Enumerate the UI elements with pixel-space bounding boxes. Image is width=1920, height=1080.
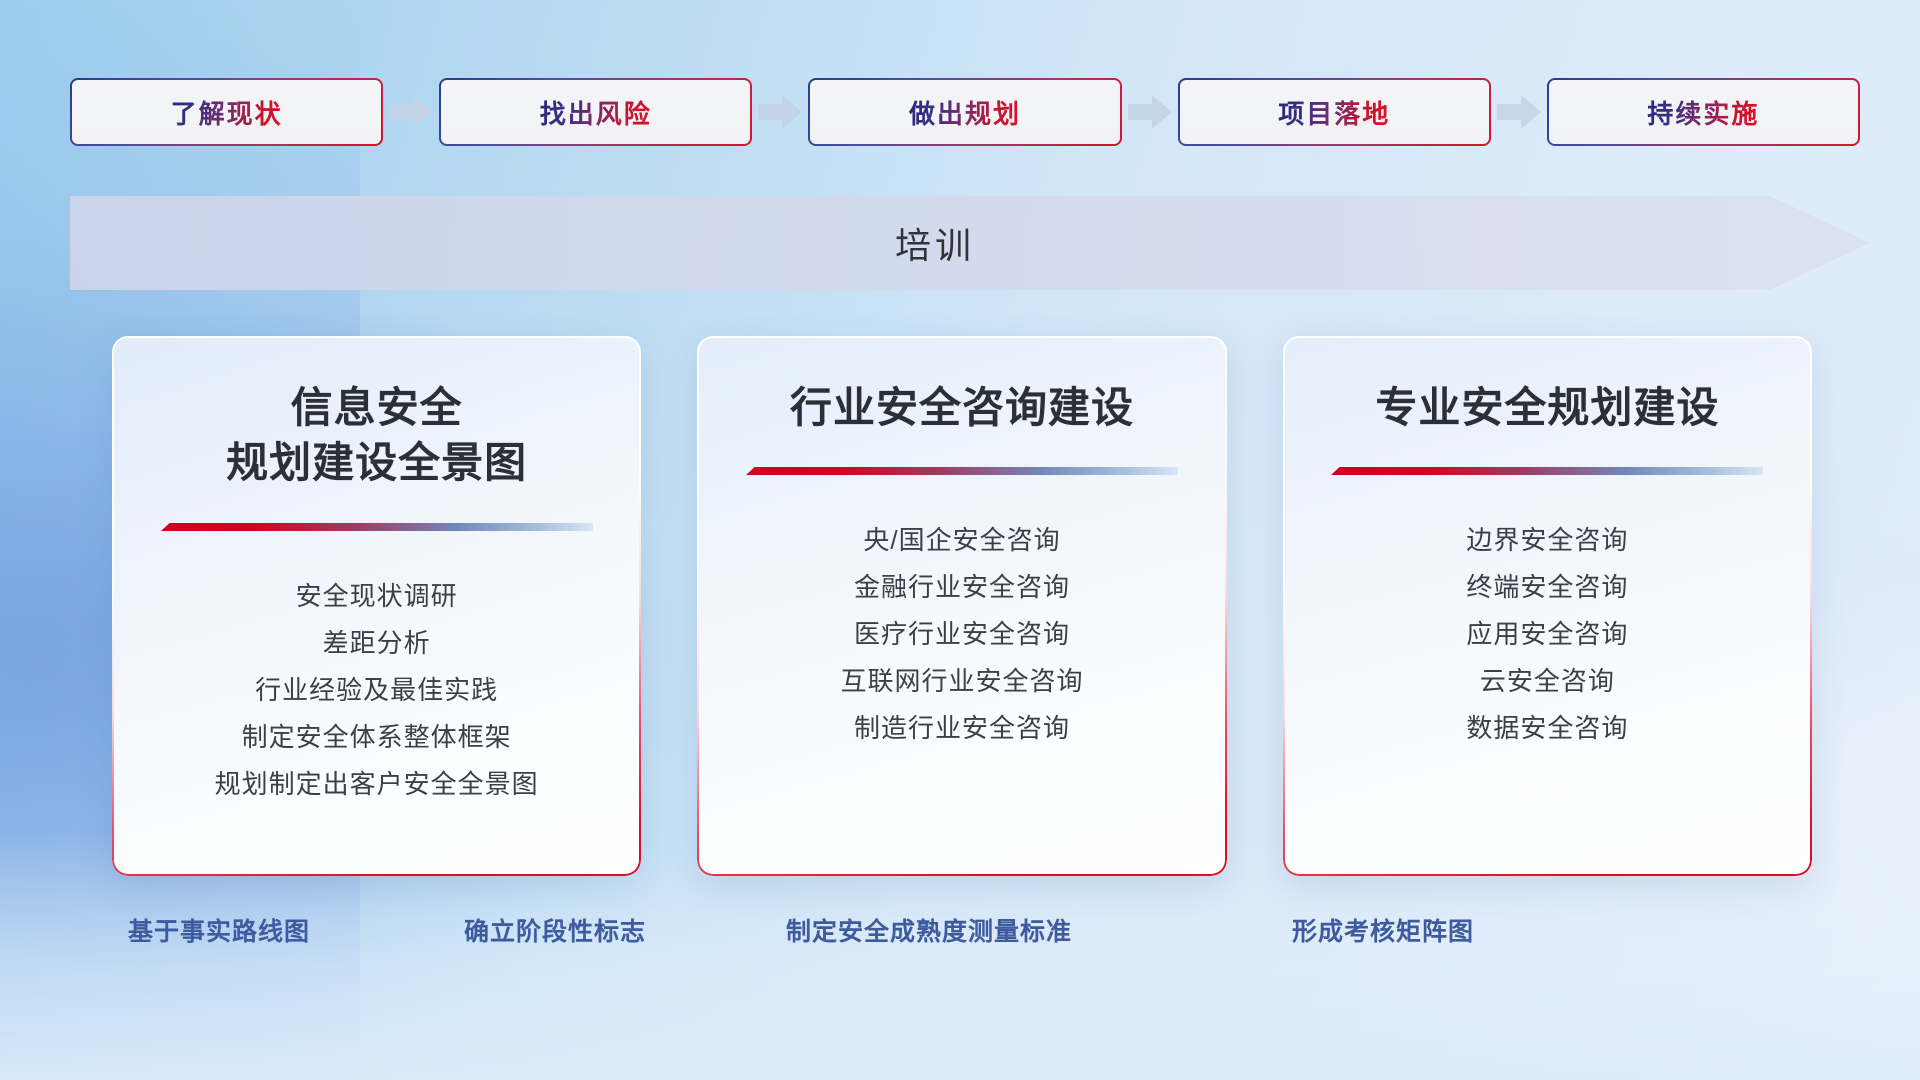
card-divider <box>746 465 1178 477</box>
chevron-right-arrow-icon <box>389 95 433 129</box>
chevron-right-arrow-icon <box>758 95 802 129</box>
training-band: 培训 <box>70 196 1870 290</box>
step-label: 找出风险 <box>540 94 652 131</box>
consulting-card-2[interactable]: 行业安全咨询建设央/国企安全咨询金融行业安全咨询医疗行业安全咨询互联网行业安全咨… <box>697 336 1226 876</box>
card-item-list: 央/国企安全咨询金融行业安全咨询医疗行业安全咨询互联网行业安全咨询制造行业安全咨… <box>727 517 1196 752</box>
step-label: 做出规划 <box>909 94 1021 131</box>
step-box-2[interactable]: 找出风险 <box>439 78 752 146</box>
list-item[interactable]: 差距分析 <box>142 620 611 667</box>
chevron-right-arrow-icon <box>1497 95 1541 129</box>
list-item[interactable]: 终端安全咨询 <box>1313 564 1782 611</box>
bottom-label-4: 形成考核矩阵图 <box>1292 912 1474 948</box>
list-item[interactable]: 制造行业安全咨询 <box>727 705 1196 752</box>
card-divider-shape <box>1331 465 1763 477</box>
step-box-5[interactable]: 持续实施 <box>1547 78 1860 146</box>
card-divider-shape <box>161 521 593 533</box>
step-label: 持续实施 <box>1647 94 1759 131</box>
step-arrow-2 <box>752 92 808 132</box>
list-item[interactable]: 金融行业安全咨询 <box>727 564 1196 611</box>
list-item[interactable]: 数据安全咨询 <box>1313 705 1782 752</box>
consulting-card-1[interactable]: 信息安全 规划建设全景图安全现状调研差距分析行业经验及最佳实践制定安全体系整体框… <box>112 336 641 876</box>
list-item[interactable]: 央/国企安全咨询 <box>727 517 1196 564</box>
card-divider <box>161 521 593 533</box>
card-item-list: 边界安全咨询终端安全咨询应用安全咨询云安全咨询数据安全咨询 <box>1313 517 1782 752</box>
card-title: 专业安全规划建设 <box>1313 380 1782 435</box>
training-band-label: 培训 <box>70 196 1800 290</box>
card-divider <box>1331 465 1763 477</box>
list-item[interactable]: 医疗行业安全咨询 <box>727 611 1196 658</box>
step-label: 了解现状 <box>171 94 283 131</box>
step-box-4[interactable]: 项目落地 <box>1178 78 1491 146</box>
list-item[interactable]: 行业经验及最佳实践 <box>142 667 611 714</box>
list-item[interactable]: 制定安全体系整体框架 <box>142 714 611 761</box>
card-title: 行业安全咨询建设 <box>727 380 1196 435</box>
process-steps-row: 了解现状找出风险做出规划项目落地持续实施 <box>70 78 1860 146</box>
bottom-label-1: 基于事实路线图 <box>128 912 310 948</box>
step-arrow-1 <box>383 92 439 132</box>
step-label: 项目落地 <box>1278 94 1390 131</box>
card-item-list: 安全现状调研差距分析行业经验及最佳实践制定安全体系整体框架规划制定出客户安全全景… <box>142 573 611 808</box>
list-item[interactable]: 规划制定出客户安全全景图 <box>142 761 611 808</box>
list-item[interactable]: 云安全咨询 <box>1313 658 1782 705</box>
step-arrow-3 <box>1122 92 1178 132</box>
consulting-card-3[interactable]: 专业安全规划建设边界安全咨询终端安全咨询应用安全咨询云安全咨询数据安全咨询 <box>1283 336 1812 876</box>
list-item[interactable]: 应用安全咨询 <box>1313 611 1782 658</box>
bottom-label-3: 制定安全成熟度测量标准 <box>786 912 1072 948</box>
bottom-labels-row: 基于事实路线图确立阶段性标志制定安全成熟度测量标准形成考核矩阵图 <box>0 912 1920 962</box>
consulting-cards-row: 信息安全 规划建设全景图安全现状调研差距分析行业经验及最佳实践制定安全体系整体框… <box>112 336 1812 876</box>
list-item[interactable]: 边界安全咨询 <box>1313 517 1782 564</box>
list-item[interactable]: 安全现状调研 <box>142 573 611 620</box>
bottom-label-2: 确立阶段性标志 <box>464 912 646 948</box>
list-item[interactable]: 互联网行业安全咨询 <box>727 658 1196 705</box>
card-divider-shape <box>746 465 1178 477</box>
chevron-right-arrow-icon <box>1128 95 1172 129</box>
step-arrow-4 <box>1491 92 1547 132</box>
card-title: 信息安全 规划建设全景图 <box>142 380 611 491</box>
step-box-1[interactable]: 了解现状 <box>70 78 383 146</box>
step-box-3[interactable]: 做出规划 <box>808 78 1121 146</box>
